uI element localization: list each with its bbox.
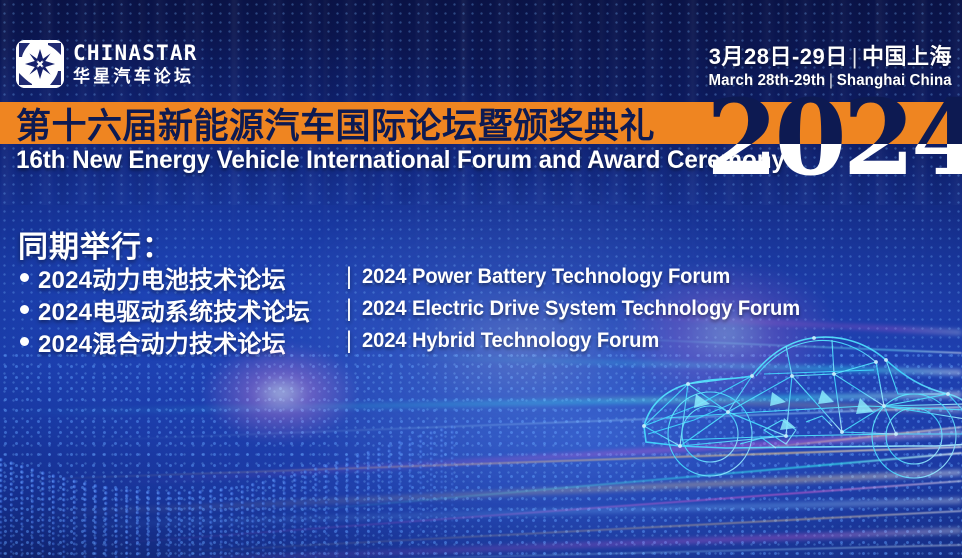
forum-separator: |: [336, 295, 362, 323]
logo-chinese-name: 华星汽车论坛: [73, 68, 198, 85]
year-bottom-half: 2024: [706, 144, 962, 190]
location-chinese: 中国上海: [862, 44, 952, 69]
date-cn-separator: |: [848, 44, 862, 69]
bullet-icon: [20, 305, 29, 314]
forum-english: 2024 Power Battery Technology Forum: [362, 265, 730, 289]
list-item: 2024动力电池技术论坛 | 2024 Power Battery Techno…: [20, 262, 818, 292]
forum-separator: |: [336, 263, 362, 291]
year-2024: 2024 2024: [706, 86, 962, 204]
forum-chinese: 2024电驱动系统技术论坛: [38, 292, 336, 327]
year-top-half: 2024: [706, 86, 962, 144]
brand-logo[interactable]: CHINASTAR 华星汽车论坛: [16, 40, 198, 88]
logo-english-name: CHINASTAR: [73, 43, 198, 64]
bullet-icon: [20, 337, 29, 346]
event-poster: CHINASTAR 华星汽车论坛 3月28日-29日|中国上海 March 28…: [0, 0, 962, 558]
date-chinese-line: 3月28日-29日|中国上海: [693, 44, 952, 69]
forum-chinese: 2024动力电池技术论坛: [38, 260, 336, 295]
headlight-flare: [196, 338, 366, 448]
chinastar-star-logo-icon: [16, 40, 64, 88]
forum-english: 2024 Hybrid Technology Forum: [362, 329, 659, 353]
page-title-chinese: 第十六届新能源汽车国际论坛暨颁奖典礼: [16, 101, 655, 145]
list-item: 2024混合动力技术论坛 | 2024 Hybrid Technology Fo…: [20, 326, 818, 356]
date-chinese: 3月28日-29日: [709, 44, 848, 69]
forum-english: 2024 Electric Drive System Technology Fo…: [362, 297, 800, 321]
page-title-english: 16th New Energy Vehicle International Fo…: [16, 146, 785, 175]
list-item: 2024电驱动系统技术论坛 | 2024 Electric Drive Syst…: [20, 294, 818, 324]
forum-list: 2024动力电池技术论坛 | 2024 Power Battery Techno…: [20, 262, 818, 358]
bullet-icon: [20, 273, 29, 282]
date-location-block: 3月28日-29日|中国上海 March 28th-29th|Shanghai …: [693, 44, 952, 90]
